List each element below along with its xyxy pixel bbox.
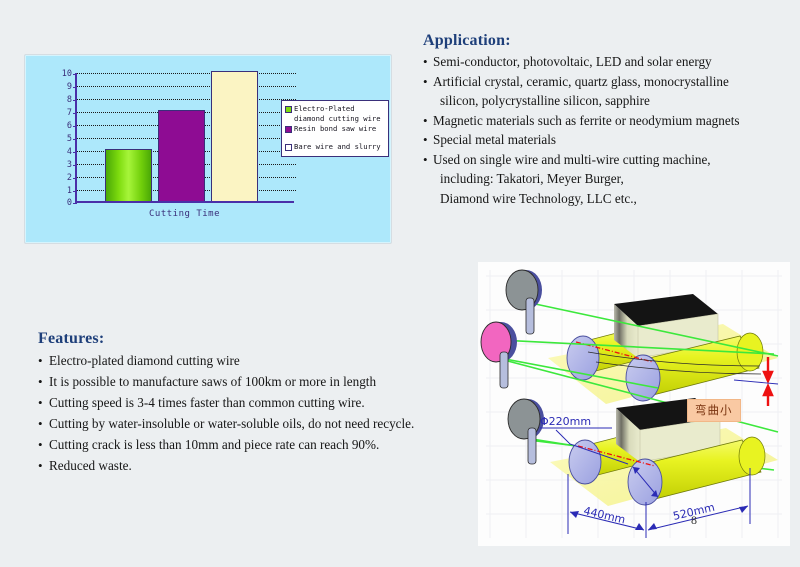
bullet-text: Magnetic materials such as ferrite or ne…	[433, 113, 740, 128]
features-heading: Features:	[38, 330, 458, 348]
roller-machine-diagram: Φ220mm 440mm 520mm 8 弯曲小	[478, 262, 790, 546]
legend-spacer	[285, 135, 385, 142]
legend-item-resin-bond: Resin bond saw wire	[285, 124, 385, 134]
bullet-item: Cutting crack is less than 10mm and piec…	[38, 434, 458, 455]
cream-swatch	[285, 144, 292, 151]
bullet-continuation: silicon, polycrystalline silicon, sapphi…	[433, 91, 795, 111]
chart-x-axis-label: Cutting Time	[75, 209, 294, 219]
bullet-text: Electro-plated diamond cutting wire	[49, 353, 240, 368]
chart-gridline: 10	[77, 73, 296, 74]
application-bullet-list: Semi-conductor, photovoltaic, LED and so…	[423, 52, 795, 208]
legend-item-electro-plated: Electro-Plated diamond cutting wire	[285, 104, 385, 123]
chart-y-tick-mark	[73, 152, 77, 153]
bullet-item: It is possible to manufacture saws of 10…	[38, 371, 458, 392]
bullet-text: It is possible to manufacture saws of 10…	[49, 374, 376, 389]
bullet-item: Magnetic materials such as ferrite or ne…	[423, 111, 795, 131]
features-section: Features: Electro-plated diamond cutting…	[38, 330, 458, 476]
chart-y-tick-label: 7	[67, 108, 72, 118]
bar-bare-wire	[211, 71, 258, 201]
bullet-item: Cutting speed is 3-4 times faster than c…	[38, 392, 458, 413]
bending-small-badge: 弯曲小	[687, 399, 741, 422]
chart-y-tick-label: 9	[67, 82, 72, 92]
chart-y-tick-mark	[73, 178, 77, 179]
bullet-item: Cutting by water-insoluble or water-solu…	[38, 413, 458, 434]
chart-y-tick-label: 4	[67, 147, 72, 157]
chart-y-tick-label: 1	[67, 186, 72, 196]
chart-y-tick-label: 0	[67, 198, 72, 208]
bullet-item: Semi-conductor, photovoltaic, LED and so…	[423, 52, 795, 72]
bullet-text: Cutting speed is 3-4 times faster than c…	[49, 395, 365, 410]
bullet-text: Semi-conductor, photovoltaic, LED and so…	[433, 54, 712, 69]
bullet-item: Used on single wire and multi-wire cutti…	[423, 150, 795, 209]
bullet-text: Reduced waste.	[49, 458, 132, 473]
diameter-label: Φ220mm	[540, 415, 591, 428]
bullet-continuation: including: Takatori, Meyer Burger, Diamo…	[433, 169, 795, 208]
chart-gridline: 8	[77, 99, 296, 100]
chart-y-tick-mark	[73, 100, 77, 101]
chart-y-tick-mark	[73, 113, 77, 114]
legend-label-electro-plated: Electro-Plated diamond cutting wire	[294, 104, 381, 123]
chart-y-tick-label: 8	[67, 95, 72, 105]
bar-chart-panel: 012345678910 Cutting Time Electro-Plated…	[24, 54, 392, 244]
application-section: Application: Semi-conductor, photovoltai…	[423, 32, 795, 208]
bullet-text: Cutting by water-insoluble or water-solu…	[49, 416, 414, 431]
application-heading: Application:	[423, 32, 795, 50]
chart-y-tick-mark	[73, 203, 77, 204]
chart-y-tick-mark	[73, 87, 77, 88]
bullet-item: Electro-plated diamond cutting wire	[38, 350, 458, 371]
chart-y-tick-mark	[73, 139, 77, 140]
page-number: 8	[691, 513, 697, 527]
bullet-text: Special metal materials	[433, 132, 556, 147]
bar-resin-bond	[158, 110, 205, 201]
bullet-item: Special metal materials	[423, 130, 795, 150]
bullet-text: Artificial crystal, ceramic, quartz glas…	[433, 74, 729, 89]
chart-y-tick-mark	[73, 74, 77, 75]
bullet-item: Reduced waste.	[38, 455, 458, 476]
green-swatch	[285, 106, 292, 113]
chart-y-tick-label: 2	[67, 173, 72, 183]
chart-gridline: 9	[77, 86, 296, 87]
chart-y-tick-mark	[73, 126, 77, 127]
features-bullet-list: Electro-plated diamond cutting wireIt is…	[38, 350, 458, 476]
legend-item-bare-wire: Bare wire and slurry	[285, 142, 385, 152]
chart-y-tick-mark	[73, 165, 77, 166]
chart-legend: Electro-Plated diamond cutting wire Resi…	[281, 100, 389, 157]
chart-y-tick-label: 3	[67, 160, 72, 170]
legend-label-resin-bond: Resin bond saw wire	[294, 124, 376, 134]
diagram-svg: Φ220mm 440mm 520mm 8	[478, 262, 790, 546]
bar-electro-plated	[105, 149, 152, 201]
legend-label-bare-wire: Bare wire and slurry	[294, 142, 381, 152]
chart-plot-area: 012345678910	[75, 73, 294, 203]
chart-y-tick-label: 10	[62, 69, 72, 79]
slide-page: 012345678910 Cutting Time Electro-Plated…	[0, 0, 800, 567]
bullet-text: Cutting crack is less than 10mm and piec…	[49, 437, 379, 452]
chart-y-tick-label: 5	[67, 134, 72, 144]
bullet-text: Used on single wire and multi-wire cutti…	[433, 152, 711, 167]
purple-swatch	[285, 126, 292, 133]
chart-y-tick-label: 6	[67, 121, 72, 131]
chart-y-tick-mark	[73, 191, 77, 192]
bullet-item: Artificial crystal, ceramic, quartz glas…	[423, 72, 795, 111]
